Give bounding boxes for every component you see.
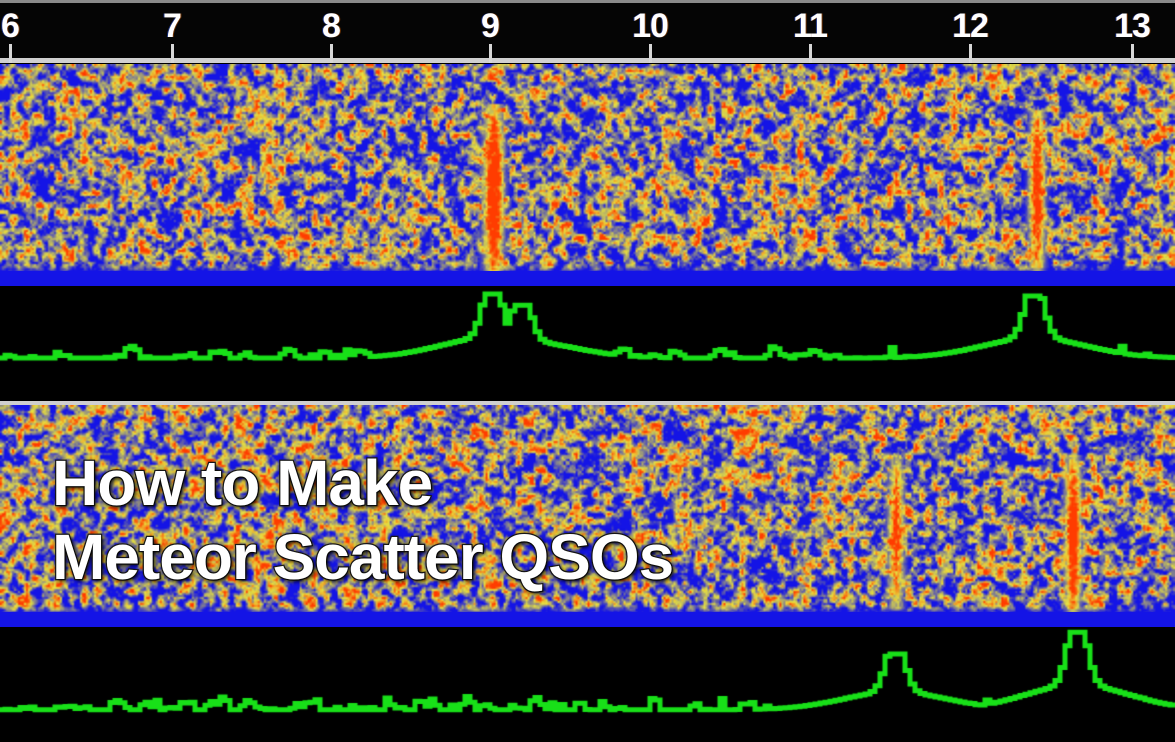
frequency-axis-baseline <box>0 58 1175 63</box>
axis-tick-label: 6 <box>1 7 19 46</box>
spectrum-canvas-top <box>0 286 1175 386</box>
waterfall-canvas-top <box>0 64 1175 286</box>
axis-tick-mark <box>969 44 972 63</box>
axis-tick-mark <box>9 44 12 63</box>
axis-tick-label: 11 <box>793 7 827 46</box>
axis-tick-label: 9 <box>481 7 499 46</box>
axis-tick-label: 8 <box>322 7 340 46</box>
axis-tick-mark <box>171 44 174 63</box>
frequency-axis: 678910111213 <box>0 3 1175 63</box>
axis-tick-mark <box>649 44 652 63</box>
axis-tick-label: 12 <box>952 7 988 46</box>
waterfall-canvas-bottom <box>0 405 1175 627</box>
waterfall-display-top[interactable] <box>0 64 1175 286</box>
axis-tick-mark <box>1131 44 1134 63</box>
spectrum-display-top[interactable] <box>0 286 1175 386</box>
spectrum-canvas-bottom <box>0 627 1175 742</box>
spectrum-display-bottom[interactable] <box>0 627 1175 742</box>
axis-tick-label: 13 <box>1114 7 1150 46</box>
axis-tick-mark <box>489 44 492 63</box>
waterfall-solid-band-top <box>0 271 1175 286</box>
axis-tick-label: 10 <box>632 7 668 46</box>
waterfall-display-bottom[interactable] <box>0 405 1175 627</box>
axis-tick-mark <box>330 44 333 63</box>
axis-tick-label: 7 <box>163 7 181 46</box>
axis-tick-mark <box>809 44 812 63</box>
screenshot-root: 678910111213 How to Make Meteor Scatter … <box>0 0 1175 742</box>
waterfall-solid-band-bottom <box>0 612 1175 627</box>
